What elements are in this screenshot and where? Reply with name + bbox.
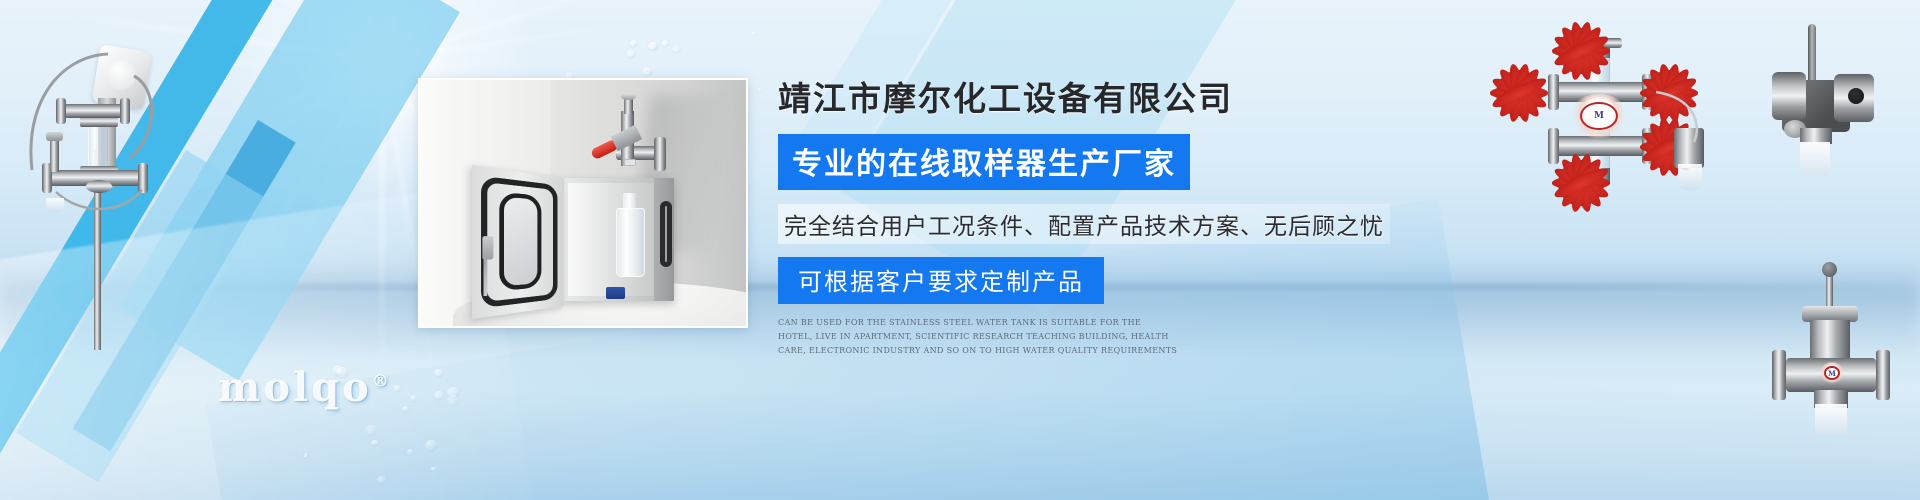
photo-blue-cap xyxy=(606,287,626,299)
watermark-logo: molqo® xyxy=(218,364,392,411)
water-droplet-icon xyxy=(434,369,443,377)
water-droplet-icon xyxy=(431,467,435,471)
photo-sample-bottle xyxy=(616,208,645,277)
photo-cabinet-door xyxy=(472,165,564,319)
water-droplet-icon xyxy=(661,40,669,47)
water-droplet-icon xyxy=(371,440,377,446)
water-droplet-icon xyxy=(365,425,377,436)
tubing-lines xyxy=(1496,32,1726,202)
flange-bore xyxy=(1848,88,1864,104)
banner-text-block: 靖江市摩尔化工设备有限公司 专业的在线取样器生产厂家 完全结合用户工况条件、配置… xyxy=(778,72,1398,358)
product-flanged-valve: M xyxy=(1758,262,1908,442)
collection-bottle xyxy=(1800,142,1830,176)
brand-emblem-icon: M xyxy=(1820,362,1844,384)
watermark-logo-text: molqo xyxy=(218,364,372,411)
english-caption: CAN BE USED FOR THE STAINLESS STEEL WATE… xyxy=(778,316,1178,358)
water-droplet-icon xyxy=(402,406,409,412)
custom-product-highlight: 可根据客户要求定制产品 xyxy=(778,257,1104,304)
water-droplet-icon xyxy=(407,449,413,455)
company-name: 靖江市摩尔化工设备有限公司 xyxy=(778,72,1398,120)
bonnet xyxy=(1810,320,1850,360)
product-lever-valve xyxy=(1778,24,1918,204)
water-droplet-icon xyxy=(425,440,437,451)
product-left-sampler xyxy=(10,20,170,350)
flange xyxy=(1772,350,1786,400)
stem-knob xyxy=(1822,262,1837,277)
water-droplet-icon xyxy=(648,42,657,51)
emblem-letter: M xyxy=(1824,366,1839,380)
water-droplet-icon xyxy=(447,387,459,398)
water-droplet-icon xyxy=(304,455,307,458)
sample-bottle xyxy=(46,198,64,212)
water-droplet-icon xyxy=(642,67,651,76)
collection-bottle xyxy=(1815,404,1847,436)
water-droplet-icon xyxy=(630,40,637,46)
photo-sampling-valve xyxy=(590,95,668,184)
water-droplet-icon xyxy=(751,31,757,36)
product-cross-sampler: M xyxy=(1496,32,1726,192)
water-droplet-icon xyxy=(434,391,444,400)
water-droplet-icon xyxy=(672,45,680,53)
water-droplet-icon xyxy=(393,385,401,392)
water-droplet-icon xyxy=(626,50,635,58)
headline-highlight: 专业的在线取样器生产厂家 xyxy=(778,134,1190,190)
registered-mark-icon: ® xyxy=(372,372,392,392)
product-photo-cabinet xyxy=(418,78,748,328)
tubing-lines xyxy=(10,20,170,350)
water-droplet-icon xyxy=(410,395,418,402)
subheadline: 完全结合用户工况条件、配置产品技术方案、无后顾之忧 xyxy=(778,204,1390,244)
flange xyxy=(1772,72,1806,120)
flange xyxy=(1876,350,1890,400)
promo-banner: 靖江市摩尔化工设备有限公司 专业的在线取样器生产厂家 完全结合用户工况条件、配置… xyxy=(0,0,1920,500)
